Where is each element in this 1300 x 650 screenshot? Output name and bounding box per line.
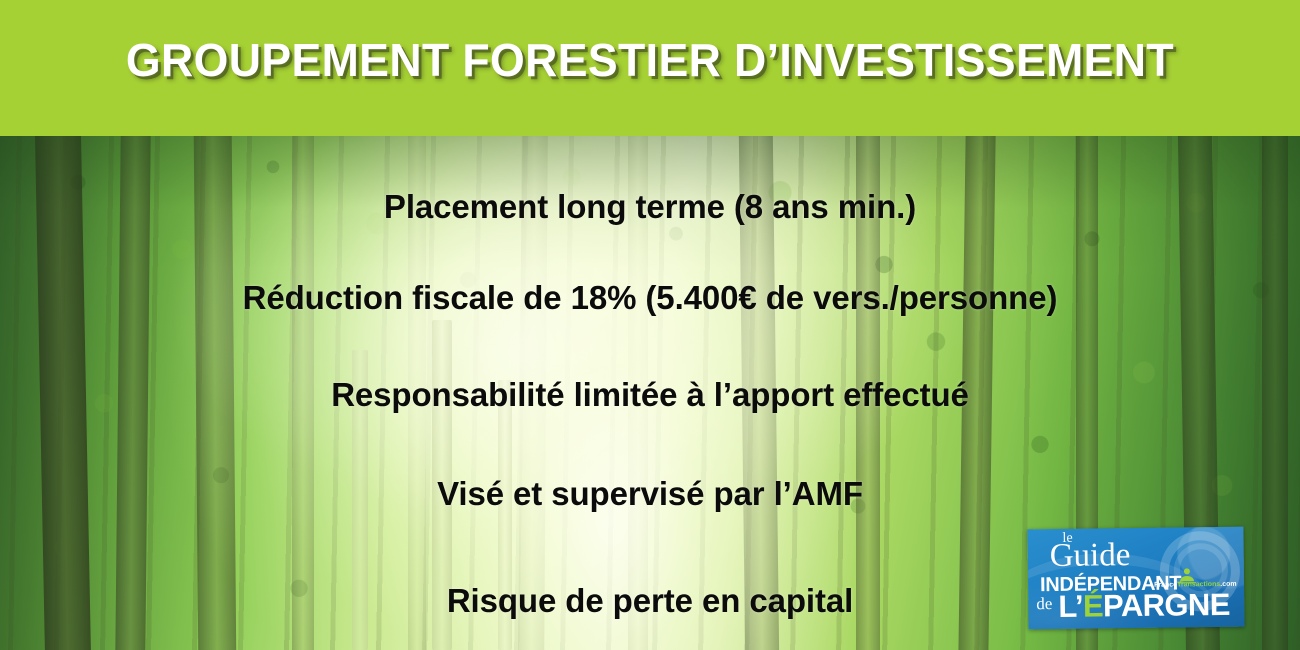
page-title: GROUPEMENT FORESTIER D’INVESTISSEMENT bbox=[20, 33, 1281, 87]
bullet-item-3: Responsabilité limitée à l’apport effect… bbox=[0, 376, 1300, 414]
logo-epargne-prefix: L’ bbox=[1058, 589, 1083, 624]
logo-guide-text: Guide bbox=[1050, 539, 1131, 573]
logo-epargne-highlight: É bbox=[1083, 588, 1104, 623]
logo-de-text: de bbox=[1036, 595, 1052, 612]
logo-epargne-text: L’ÉPARGNE bbox=[1058, 589, 1230, 622]
promotional-banner: GROUPEMENT FORESTIER D’INVESTISSEMENT Pl… bbox=[0, 0, 1300, 650]
guide-independant-epargne-logo[interactable]: le Guide INDÉPENDANT FranceTransactions.… bbox=[1027, 527, 1244, 630]
bullet-item-2: Réduction fiscale de 18% (5.400€ de vers… bbox=[0, 279, 1300, 317]
title-band: GROUPEMENT FORESTIER D’INVESTISSEMENT bbox=[0, 0, 1300, 136]
bullet-item-1: Placement long terme (8 ans min.) bbox=[0, 188, 1300, 226]
logo-epargne-rest: PARGNE bbox=[1103, 587, 1230, 624]
bullet-item-4: Visé et supervisé par l’AMF bbox=[0, 475, 1300, 513]
